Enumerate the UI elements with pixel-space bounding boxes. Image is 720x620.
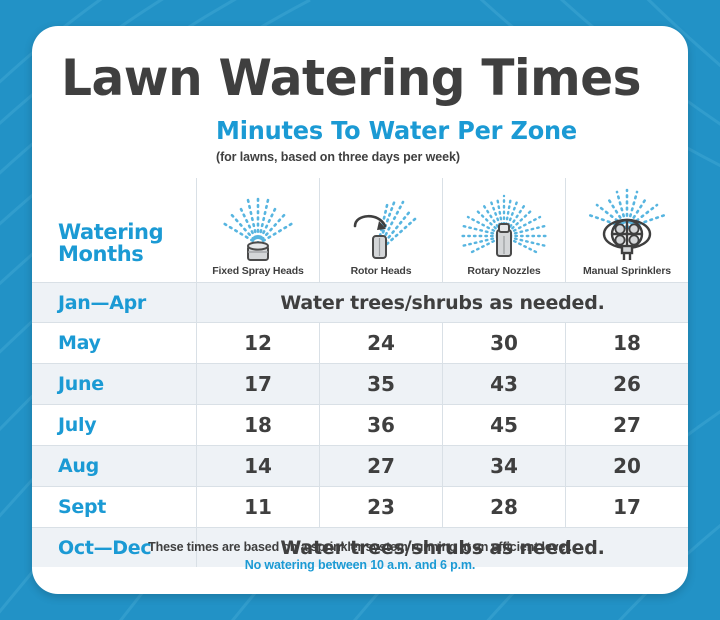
table-row: May 12 24 30 18 xyxy=(32,322,688,363)
cell-fixed-spray-heads: 12 xyxy=(196,323,319,363)
watering-times-table: Watering Months xyxy=(32,178,688,567)
infographic-card: Lawn Watering Times Minutes To Water Per… xyxy=(32,26,688,594)
footer-line-1: These times are based on a sprinkler sys… xyxy=(32,540,688,554)
column-header-fixed-spray-heads: Fixed Spray Heads xyxy=(196,178,319,282)
table-row: Aug 14 27 34 20 xyxy=(32,445,688,486)
manual-sprinkler-icon xyxy=(573,190,681,264)
cell-rotary-nozzles: 45 xyxy=(442,405,565,445)
cell-manual-sprinklers: 17 xyxy=(565,487,688,527)
column-label-rotor-heads: Rotor Heads xyxy=(351,265,412,277)
table-row: July 18 36 45 27 xyxy=(32,404,688,445)
cell-rotor-heads: 24 xyxy=(319,323,442,363)
cell-rotary-nozzles: 28 xyxy=(442,487,565,527)
table-row: Jan—Apr Water trees/shrubs as needed. xyxy=(32,283,688,322)
cell-rotor-heads: 36 xyxy=(319,405,442,445)
table-row: June 17 35 43 26 xyxy=(32,363,688,404)
column-header-rotary-nozzles: Rotary Nozzles xyxy=(442,178,565,282)
page-title: Lawn Watering Times xyxy=(32,26,668,104)
subheading-block: Minutes To Water Per Zone (for lawns, ba… xyxy=(32,116,688,164)
subheading: Minutes To Water Per Zone xyxy=(216,116,669,145)
row-month-label: May xyxy=(32,323,196,363)
cell-rotor-heads: 27 xyxy=(319,446,442,486)
cell-manual-sprinklers: 26 xyxy=(565,364,688,404)
watering-months-header-line2: Months xyxy=(58,244,196,266)
rotary-nozzle-icon xyxy=(450,190,558,264)
footer-notes: These times are based on a sprinkler sys… xyxy=(32,540,688,572)
footer-line-2: No watering between 10 a.m. and 6 p.m. xyxy=(32,558,688,572)
column-header-rotor-heads: Rotor Heads xyxy=(319,178,442,282)
row-month-label: Jan—Apr xyxy=(32,283,196,322)
table-header-row: Watering Months xyxy=(32,178,688,283)
watering-months-header-line1: Watering xyxy=(58,222,196,244)
row-month-label: Sept xyxy=(32,487,196,527)
row-note-text: Water trees/shrubs as needed. xyxy=(196,283,688,322)
column-label-manual-sprinklers: Manual Sprinklers xyxy=(583,265,671,277)
row-month-label: July xyxy=(32,405,196,445)
cell-manual-sprinklers: 27 xyxy=(565,405,688,445)
column-label-rotary-nozzles: Rotary Nozzles xyxy=(467,265,540,277)
rotor-head-icon xyxy=(333,190,429,264)
row-month-label: Aug xyxy=(32,446,196,486)
cell-rotary-nozzles: 30 xyxy=(442,323,565,363)
cell-fixed-spray-heads: 17 xyxy=(196,364,319,404)
cell-fixed-spray-heads: 14 xyxy=(196,446,319,486)
row-month-label: June xyxy=(32,364,196,404)
cell-manual-sprinklers: 18 xyxy=(565,323,688,363)
cell-rotary-nozzles: 34 xyxy=(442,446,565,486)
cell-rotor-heads: 35 xyxy=(319,364,442,404)
cell-fixed-spray-heads: 11 xyxy=(196,487,319,527)
watering-months-header: Watering Months xyxy=(32,222,196,282)
table-row: Sept 11 23 28 17 xyxy=(32,486,688,527)
cell-manual-sprinklers: 20 xyxy=(565,446,688,486)
subheading-note: (for lawns, based on three days per week… xyxy=(216,150,688,164)
column-label-fixed-spray-heads: Fixed Spray Heads xyxy=(212,265,303,277)
cell-rotary-nozzles: 43 xyxy=(442,364,565,404)
cell-rotor-heads: 23 xyxy=(319,487,442,527)
column-header-manual-sprinklers: Manual Sprinklers xyxy=(565,178,688,282)
cell-fixed-spray-heads: 18 xyxy=(196,405,319,445)
fixed-spray-head-icon xyxy=(210,190,306,264)
